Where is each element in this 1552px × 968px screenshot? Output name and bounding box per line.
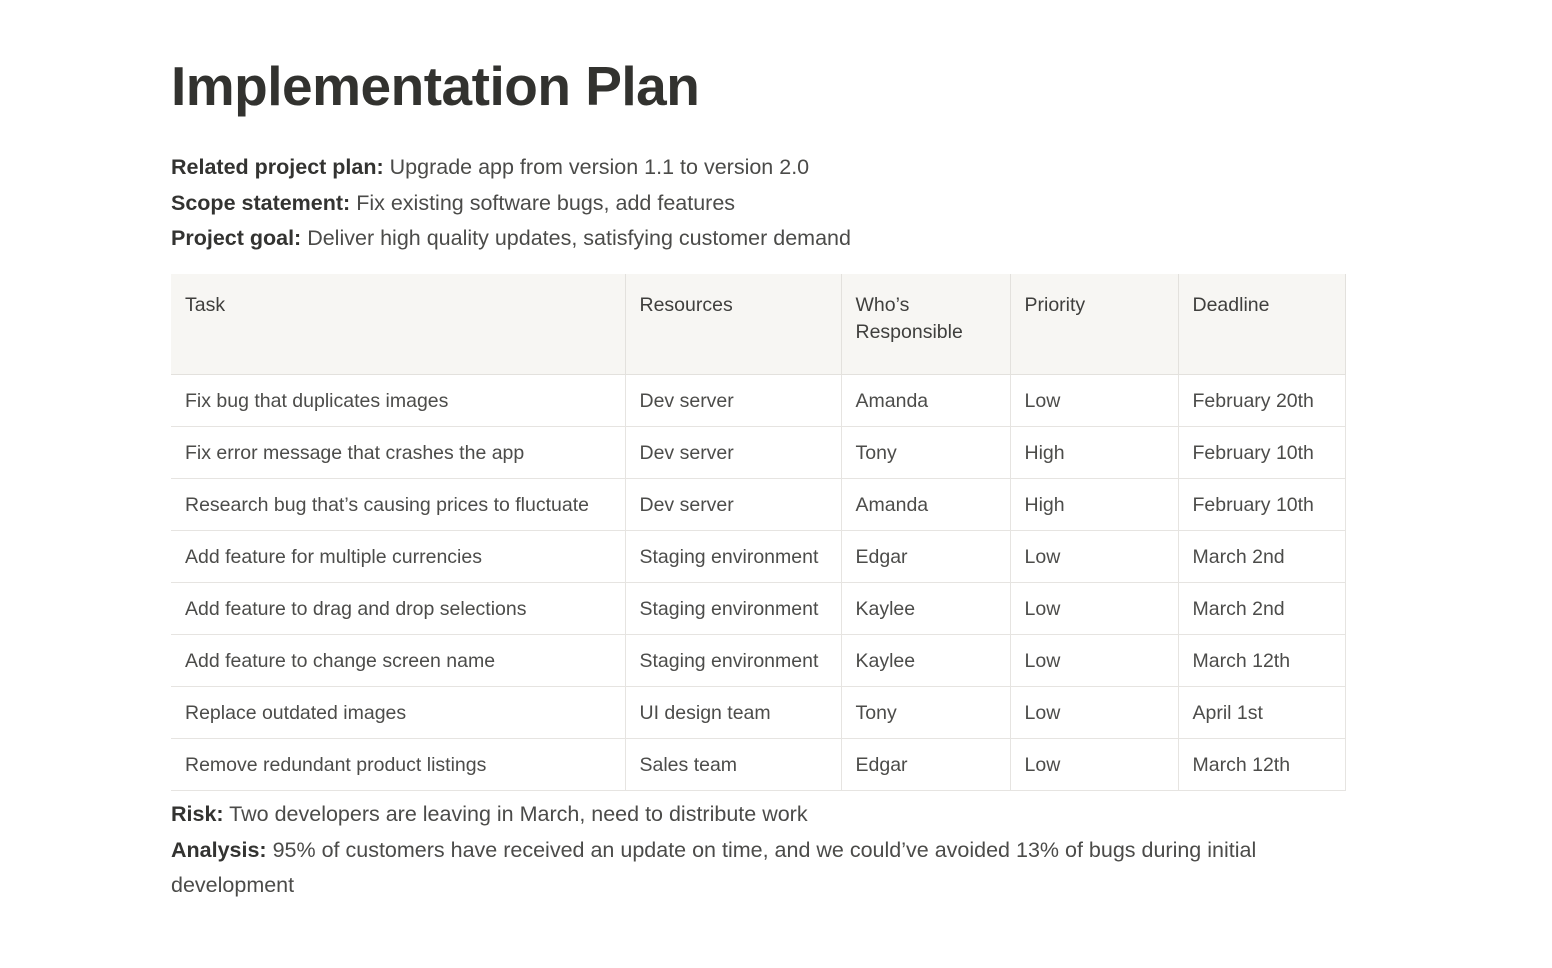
meta-label-scope-statement: Scope statement:: [171, 191, 350, 215]
cell-task: Research bug that’s causing prices to fl…: [171, 479, 625, 531]
page-title: Implementation Plan: [171, 55, 699, 117]
cell-resources: Sales team: [625, 739, 841, 791]
cell-priority: Low: [1010, 375, 1178, 427]
cell-priority: Low: [1010, 531, 1178, 583]
meta-line-scope-statement: Scope statement: Fix existing software b…: [171, 186, 1271, 222]
cell-responsible: Edgar: [841, 531, 1010, 583]
cell-deadline: February 10th: [1178, 479, 1345, 531]
meta-value-scope-statement: Fix existing software bugs, add features: [356, 191, 735, 215]
cell-deadline: March 2nd: [1178, 531, 1345, 583]
meta-value-project-goal: Deliver high quality updates, satisfying…: [307, 226, 851, 250]
table-row: Fix error message that crashes the app D…: [171, 427, 1345, 479]
cell-resources: UI design team: [625, 687, 841, 739]
cell-priority: Low: [1010, 583, 1178, 635]
cell-task: Add feature to change screen name: [171, 635, 625, 687]
table-header: Task Resources Who’s Responsible Priorit…: [171, 274, 1345, 375]
meta-line-project-goal: Project goal: Deliver high quality updat…: [171, 221, 1271, 257]
meta-line-related-project-plan: Related project plan: Upgrade app from v…: [171, 150, 1271, 186]
cell-resources: Dev server: [625, 427, 841, 479]
column-header-priority: Priority: [1010, 274, 1178, 375]
cell-deadline: February 20th: [1178, 375, 1345, 427]
cell-resources: Staging environment: [625, 635, 841, 687]
implementation-plan-table: Task Resources Who’s Responsible Priorit…: [171, 274, 1346, 791]
table-row: Add feature to change screen name Stagin…: [171, 635, 1345, 687]
cell-priority: High: [1010, 427, 1178, 479]
document-page: Implementation Plan Related project plan…: [0, 0, 1552, 968]
cell-responsible: Amanda: [841, 375, 1010, 427]
cell-task: Fix error message that crashes the app: [171, 427, 625, 479]
implementation-plan-table-wrapper: Task Resources Who’s Responsible Priorit…: [171, 274, 1345, 791]
cell-resources: Staging environment: [625, 531, 841, 583]
cell-deadline: March 12th: [1178, 635, 1345, 687]
note-line-analysis: Analysis: 95% of customers have received…: [171, 833, 1281, 904]
project-meta-block: Related project plan: Upgrade app from v…: [171, 150, 1271, 257]
cell-priority: High: [1010, 479, 1178, 531]
meta-label-related-project-plan: Related project plan:: [171, 155, 384, 179]
cell-resources: Staging environment: [625, 583, 841, 635]
cell-resources: Dev server: [625, 375, 841, 427]
cell-resources: Dev server: [625, 479, 841, 531]
cell-deadline: March 12th: [1178, 739, 1345, 791]
note-label-risk: Risk:: [171, 802, 224, 826]
cell-deadline: April 1st: [1178, 687, 1345, 739]
note-line-risk: Risk: Two developers are leaving in Marc…: [171, 797, 1281, 833]
cell-deadline: March 2nd: [1178, 583, 1345, 635]
cell-priority: Low: [1010, 739, 1178, 791]
cell-responsible: Kaylee: [841, 635, 1010, 687]
meta-value-related-project-plan: Upgrade app from version 1.1 to version …: [390, 155, 809, 179]
cell-responsible: Kaylee: [841, 583, 1010, 635]
table-body: Fix bug that duplicates images Dev serve…: [171, 375, 1345, 791]
cell-task: Replace outdated images: [171, 687, 625, 739]
note-value-analysis: 95% of customers have received an update…: [171, 838, 1256, 898]
cell-task: Remove redundant product listings: [171, 739, 625, 791]
table-row: Add feature for multiple currencies Stag…: [171, 531, 1345, 583]
column-header-deadline: Deadline: [1178, 274, 1345, 375]
cell-task: Add feature to drag and drop selections: [171, 583, 625, 635]
table-row: Research bug that’s causing prices to fl…: [171, 479, 1345, 531]
cell-responsible: Tony: [841, 427, 1010, 479]
table-row: Replace outdated images UI design team T…: [171, 687, 1345, 739]
cell-task: Fix bug that duplicates images: [171, 375, 625, 427]
note-label-analysis: Analysis:: [171, 838, 267, 862]
note-value-risk: Two developers are leaving in March, nee…: [229, 802, 807, 826]
table-row: Add feature to drag and drop selections …: [171, 583, 1345, 635]
table-header-row: Task Resources Who’s Responsible Priorit…: [171, 274, 1345, 375]
notes-block: Risk: Two developers are leaving in Marc…: [171, 797, 1281, 904]
column-header-responsible: Who’s Responsible: [841, 274, 1010, 375]
cell-responsible: Tony: [841, 687, 1010, 739]
table-row: Fix bug that duplicates images Dev serve…: [171, 375, 1345, 427]
column-header-resources: Resources: [625, 274, 841, 375]
cell-responsible: Edgar: [841, 739, 1010, 791]
cell-task: Add feature for multiple currencies: [171, 531, 625, 583]
table-row: Remove redundant product listings Sales …: [171, 739, 1345, 791]
cell-priority: Low: [1010, 635, 1178, 687]
cell-priority: Low: [1010, 687, 1178, 739]
cell-responsible: Amanda: [841, 479, 1010, 531]
cell-deadline: February 10th: [1178, 427, 1345, 479]
meta-label-project-goal: Project goal:: [171, 226, 301, 250]
column-header-task: Task: [171, 274, 625, 375]
